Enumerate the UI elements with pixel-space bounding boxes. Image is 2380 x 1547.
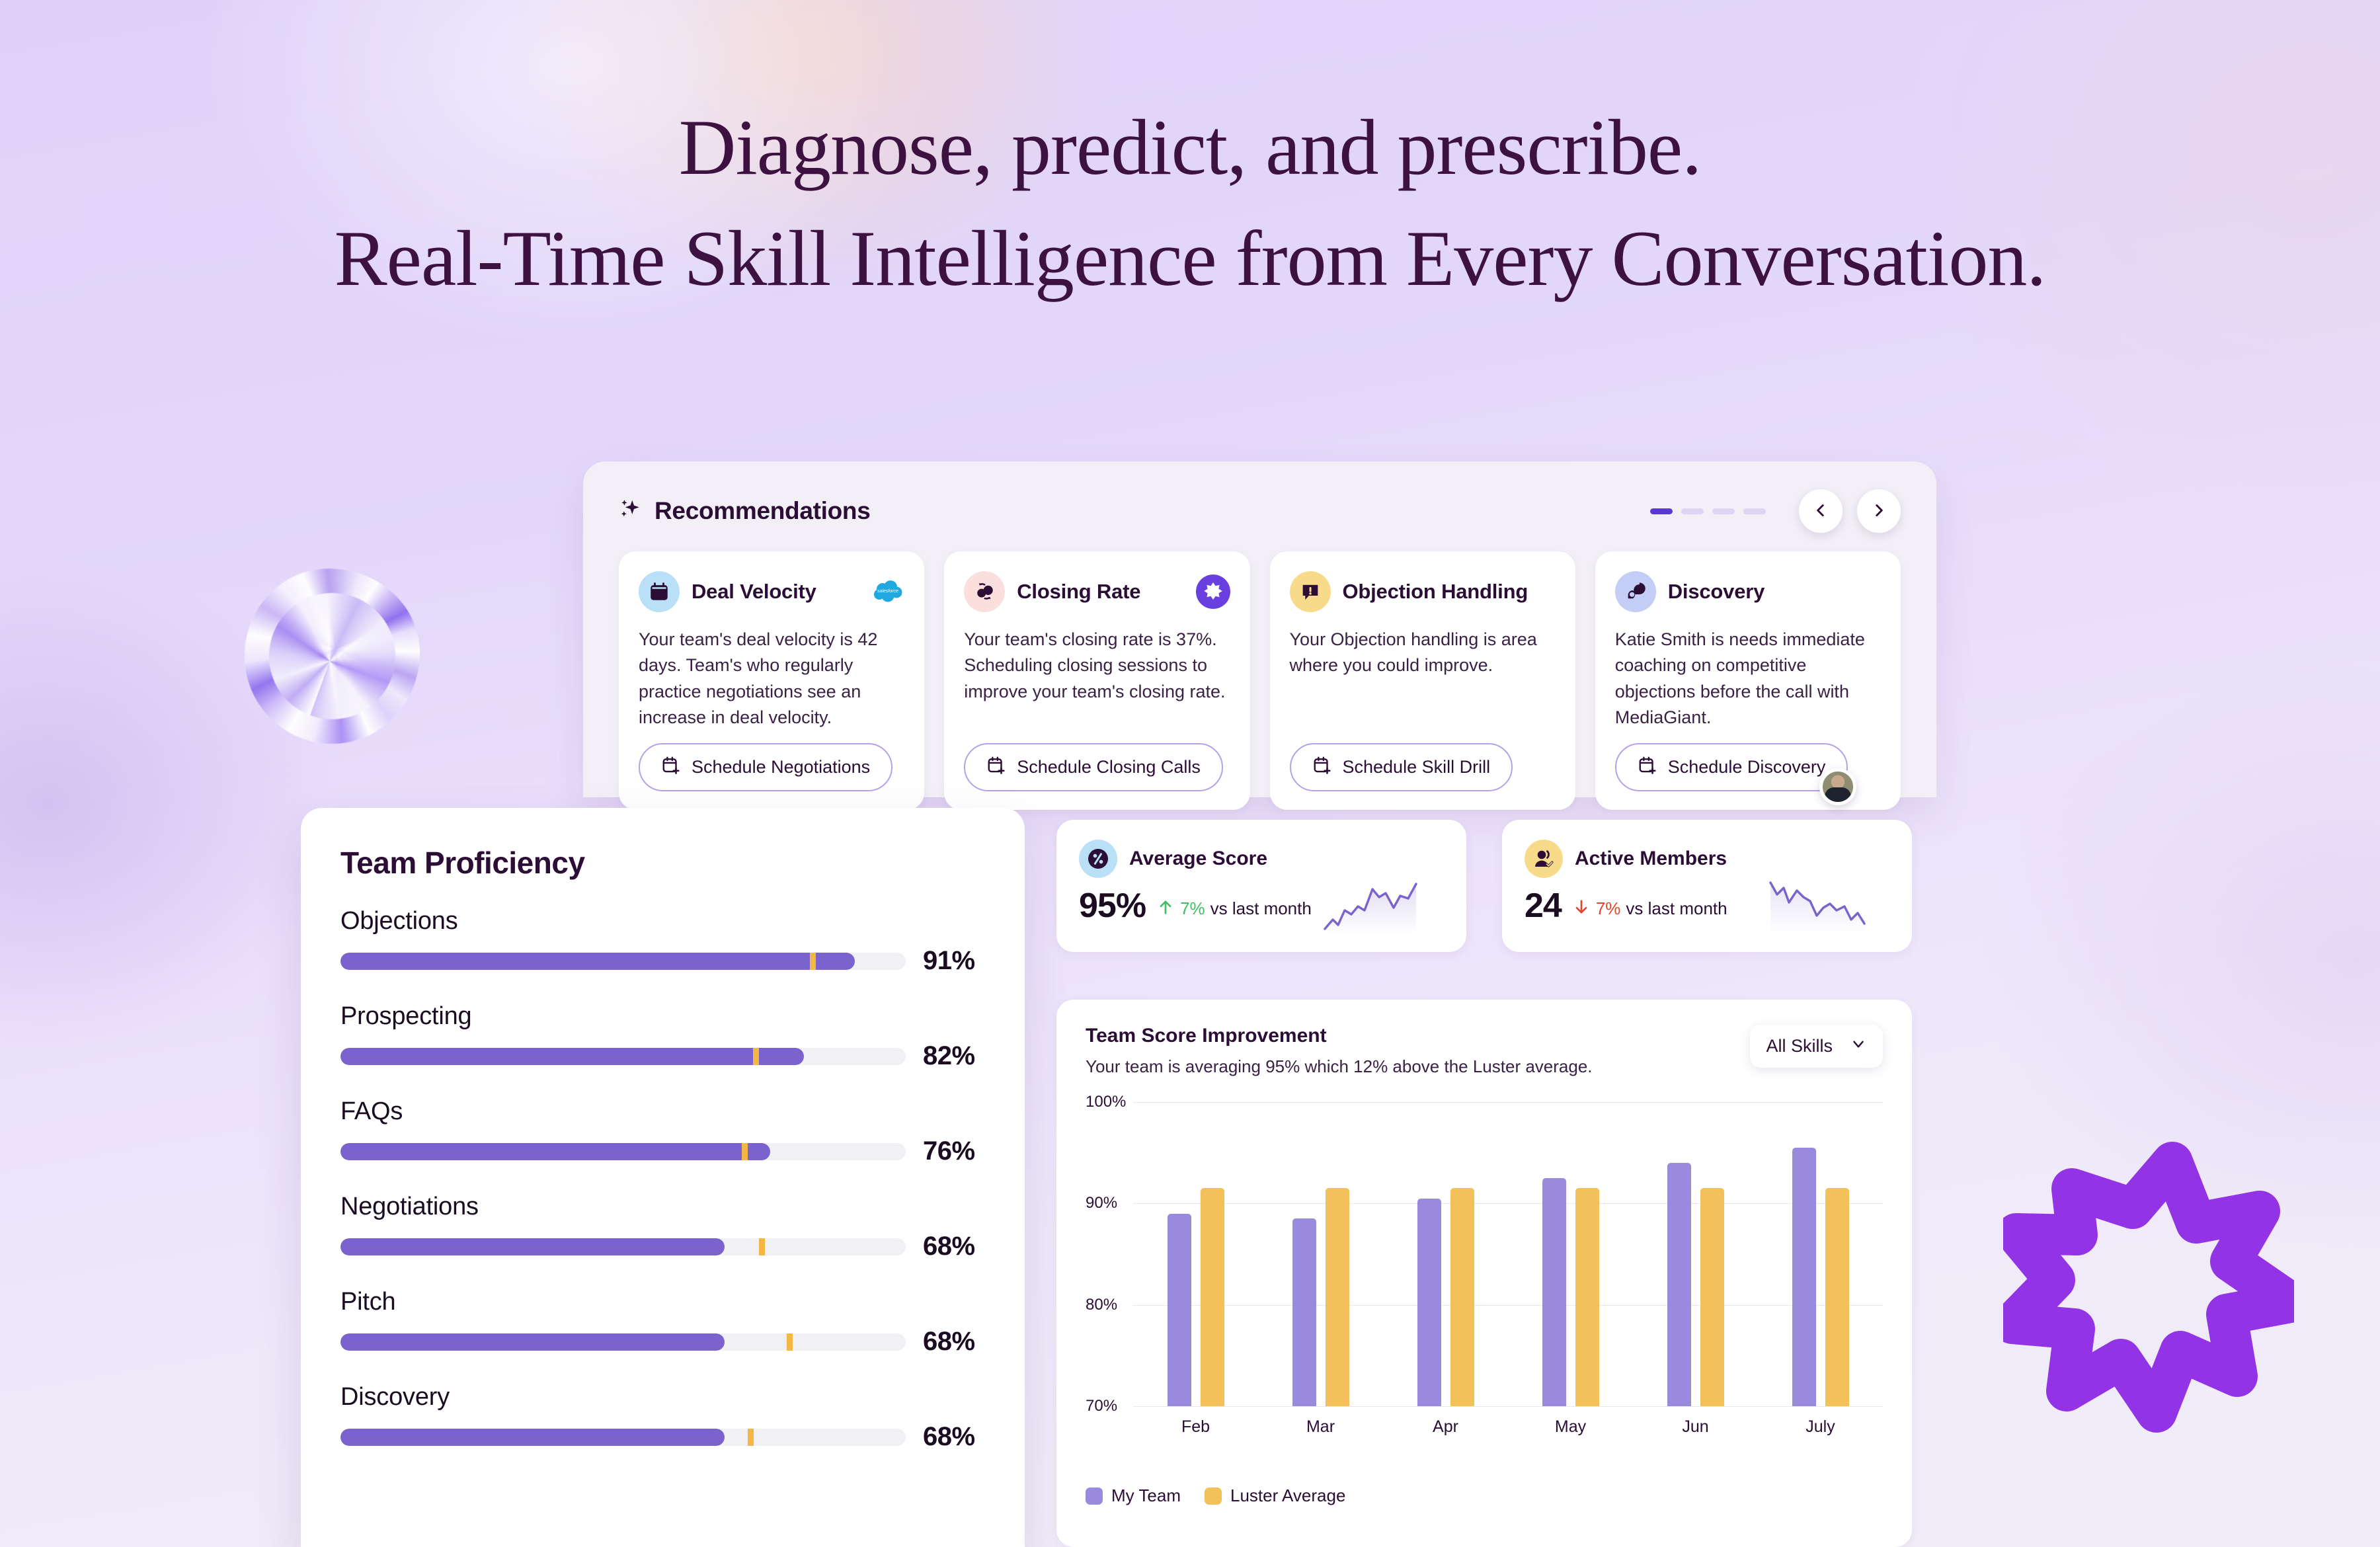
bar-group: July <box>1758 1102 1883 1406</box>
bar[interactable] <box>1417 1199 1441 1406</box>
bar[interactable] <box>1700 1188 1724 1406</box>
skill-percent: 68% <box>923 1422 975 1452</box>
skill-row: Prospecting82% <box>340 1002 985 1071</box>
skill-progress-fill <box>340 1238 725 1255</box>
percent-icon <box>1079 840 1117 878</box>
hero-line-1: Diagnose, predict, and prescribe. <box>0 99 2380 196</box>
stat-value: 24 <box>1525 889 1562 923</box>
card-title: Discovery <box>1668 580 1765 604</box>
pagination-dot-1[interactable] <box>1650 508 1673 514</box>
calendar-plus-icon <box>661 755 681 779</box>
skill-label: Prospecting <box>340 1002 985 1031</box>
stat-label: Active Members <box>1575 848 1727 870</box>
hero-line-2: Real-Time Skill Intelligence from Every … <box>0 210 2380 307</box>
skill-progress-track <box>340 1048 906 1065</box>
stat-value: 95% <box>1079 889 1146 923</box>
schedule-closing-calls-button[interactable]: Schedule Closing Calls <box>964 743 1223 791</box>
stat-header: Average Score <box>1079 840 1444 878</box>
chevron-right-icon <box>1870 502 1887 521</box>
stat-card-active-members: Active Members 24 7% vs last month <box>1502 820 1912 952</box>
stat-trend-pct: 7% <box>1596 898 1621 919</box>
skill-percent: 68% <box>923 1327 975 1357</box>
skill-benchmark-marker <box>742 1143 748 1160</box>
x-axis-tick-label: July <box>1758 1417 1883 1437</box>
skill-benchmark-marker <box>759 1238 765 1255</box>
hero-headline: Diagnose, predict, and prescribe. Real-T… <box>0 99 2380 307</box>
y-axis-tick-label: 100% <box>1086 1093 1126 1111</box>
card-body: Your Objection handling is area where yo… <box>1290 627 1556 731</box>
skill-progress-fill <box>340 953 855 970</box>
carousel-next-button[interactable] <box>1857 489 1901 533</box>
chart-title: Team Score Improvement <box>1086 1025 1593 1047</box>
skill-progress-fill <box>340 1143 770 1160</box>
bar-groups: FebMarAprMayJunJuly <box>1133 1102 1883 1406</box>
page-title: Team Proficiency <box>340 845 985 881</box>
chevron-left-icon <box>1812 502 1829 521</box>
calendar-icon <box>639 571 680 612</box>
gridline <box>1133 1406 1883 1407</box>
chart-header-text: Team Score Improvement Your team is aver… <box>1086 1025 1593 1077</box>
pagination-dot-3[interactable] <box>1712 508 1735 514</box>
y-axis-tick-label: 90% <box>1086 1194 1117 1212</box>
skill-percent: 91% <box>923 946 975 976</box>
legend-swatch <box>1205 1487 1222 1505</box>
skill-benchmark-marker <box>753 1048 759 1065</box>
skill-benchmark-marker <box>748 1429 754 1446</box>
svg-text:salesforce: salesforce <box>877 589 898 594</box>
burst-badge <box>1196 575 1230 609</box>
bar-group: May <box>1508 1102 1633 1406</box>
card-title: Closing Rate <box>1017 580 1140 604</box>
card-body: Your team's closing rate is 37%. Schedul… <box>964 627 1230 731</box>
button-label: Schedule Skill Drill <box>1343 757 1491 777</box>
bar-group: Feb <box>1133 1102 1258 1406</box>
schedule-negotiations-button[interactable]: Schedule Negotiations <box>639 743 892 791</box>
recommendation-card-deal-velocity[interactable]: Deal Velocity salesforce Your team's dea… <box>619 551 924 810</box>
skill-label: Negotiations <box>340 1193 985 1221</box>
skills-filter-label: All Skills <box>1766 1036 1833 1056</box>
stat-trend-pct: 7% <box>1180 898 1205 919</box>
x-axis-tick-label: Mar <box>1258 1417 1383 1437</box>
skills-filter-select[interactable]: All Skills <box>1750 1025 1883 1068</box>
bar-group: Apr <box>1383 1102 1508 1406</box>
bar[interactable] <box>1792 1148 1816 1406</box>
card-header: Discovery <box>1615 571 1881 612</box>
stat-card-average-score: Average Score 95% 7% vs last month <box>1056 820 1466 952</box>
bar[interactable] <box>1326 1188 1349 1406</box>
button-label: Schedule Negotiations <box>692 757 870 777</box>
x-axis-tick-label: Feb <box>1133 1417 1258 1437</box>
skill-progress-track <box>340 953 906 970</box>
x-axis-tick-label: May <box>1508 1417 1633 1437</box>
burst-star-decoration <box>2003 1124 2294 1468</box>
card-body: Katie Smith is needs immediate coaching … <box>1615 627 1881 731</box>
bar[interactable] <box>1542 1178 1566 1406</box>
chart-header: Team Score Improvement Your team is aver… <box>1086 1025 1883 1077</box>
legend-swatch <box>1086 1487 1103 1505</box>
bar-chart-plot: 70%80%90%100%FebMarAprMayJunJuly <box>1086 1102 1883 1439</box>
legend-label: Luster Average <box>1230 1486 1345 1506</box>
legend-item: Luster Average <box>1205 1486 1345 1506</box>
skill-label: Pitch <box>340 1288 985 1316</box>
sparkline-down <box>1768 877 1893 937</box>
pagination-dot-4[interactable] <box>1743 508 1766 514</box>
sparkline-up <box>1322 877 1448 937</box>
card-header: Objection Handling <box>1290 571 1556 612</box>
skill-label: Objections <box>340 907 985 935</box>
card-title: Deal Velocity <box>692 580 816 604</box>
stat-header: Active Members <box>1525 840 1889 878</box>
card-body: Your team's deal velocity is 42 days. Te… <box>639 627 904 731</box>
alert-bubble-icon <box>1290 571 1331 612</box>
skill-percent: 76% <box>923 1136 975 1166</box>
chevron-down-icon <box>1850 1035 1867 1057</box>
team-member-avatar[interactable] <box>1819 768 1856 805</box>
calendar-plus-icon <box>1638 755 1657 779</box>
bar[interactable] <box>1575 1188 1599 1406</box>
skill-benchmark-marker <box>787 1333 793 1351</box>
recommendations-header: Recommendations <box>583 461 1936 533</box>
bar-group: Mar <box>1258 1102 1383 1406</box>
recommendations-panel: Recommendations <box>583 461 1936 797</box>
skill-percent: 82% <box>923 1041 975 1071</box>
skill-progress-track <box>340 1238 906 1255</box>
bar[interactable] <box>1201 1188 1224 1406</box>
stat-trend-text: vs last month <box>1626 898 1727 919</box>
skill-row: Negotiations68% <box>340 1193 985 1261</box>
skill-row: Discovery68% <box>340 1383 985 1452</box>
legend-item: My Team <box>1086 1486 1181 1506</box>
skill-progress-track <box>340 1429 906 1446</box>
recommendations-title: Recommendations <box>654 497 871 525</box>
calendar-plus-icon <box>1312 755 1332 779</box>
recommendation-card-objection-handling[interactable]: Objection Handling Your Objection handli… <box>1270 551 1575 810</box>
user-check-icon <box>1525 840 1563 878</box>
schedule-skill-drill-button[interactable]: Schedule Skill Drill <box>1290 743 1513 791</box>
skill-progress-track <box>340 1333 906 1351</box>
button-label: Schedule Closing Calls <box>1017 757 1201 777</box>
chart-subtitle: Your team is averaging 95% which 12% abo… <box>1086 1056 1593 1077</box>
bar[interactable] <box>1168 1214 1191 1406</box>
recommendation-cards: Deal Velocity salesforce Your team's dea… <box>583 533 1936 810</box>
card-header: Deal Velocity salesforce <box>639 571 904 612</box>
legend-label: My Team <box>1111 1486 1181 1506</box>
salesforce-logo: salesforce <box>871 580 904 604</box>
x-axis-tick-label: Apr <box>1383 1417 1508 1437</box>
skill-progress-fill <box>340 1048 804 1065</box>
chart-legend: My TeamLuster Average <box>1086 1486 1883 1506</box>
team-score-improvement-card: Team Score Improvement Your team is aver… <box>1056 1000 1912 1547</box>
recommendation-card-closing-rate[interactable]: Closing Rate Your team's closing rate is… <box>944 551 1249 810</box>
team-proficiency-panel: Team Proficiency Objections91%Prospectin… <box>301 808 1025 1547</box>
arrow-down-icon <box>1572 897 1591 920</box>
button-label: Schedule Discovery <box>1668 757 1826 777</box>
handshake-icon <box>964 571 1005 612</box>
bar[interactable] <box>1450 1188 1474 1406</box>
schedule-discovery-button[interactable]: Schedule Discovery <box>1615 743 1848 791</box>
bar[interactable] <box>1667 1163 1691 1406</box>
skill-label: Discovery <box>340 1383 985 1411</box>
y-axis-tick-label: 80% <box>1086 1296 1117 1314</box>
skill-benchmark-marker <box>810 953 816 970</box>
recommendations-nav <box>1650 489 1901 533</box>
skill-progress-fill <box>340 1333 725 1351</box>
skill-progress-track <box>340 1143 906 1160</box>
card-title: Objection Handling <box>1343 580 1528 604</box>
sparkle-icon <box>619 498 643 525</box>
stat-label: Average Score <box>1129 848 1267 870</box>
speech-people-icon <box>1615 571 1656 612</box>
arrow-up-icon <box>1156 897 1175 920</box>
skill-row: FAQs76% <box>340 1097 985 1166</box>
stat-trend: 7% vs last month <box>1156 897 1312 923</box>
gem-illustration <box>245 569 420 744</box>
recommendations-title-group: Recommendations <box>619 497 871 525</box>
stat-trend: 7% vs last month <box>1572 897 1727 923</box>
stat-trend-text: vs last month <box>1210 898 1312 919</box>
bar[interactable] <box>1825 1188 1849 1406</box>
carousel-prev-button[interactable] <box>1799 489 1843 533</box>
skill-list: Objections91%Prospecting82%FAQs76%Negoti… <box>340 907 985 1452</box>
bar[interactable] <box>1292 1218 1316 1406</box>
pagination-dot-2[interactable] <box>1681 508 1704 514</box>
skill-label: FAQs <box>340 1097 985 1126</box>
skill-row: Pitch68% <box>340 1288 985 1357</box>
skill-progress-fill <box>340 1429 725 1446</box>
y-axis-tick-label: 70% <box>1086 1397 1117 1415</box>
calendar-plus-icon <box>986 755 1006 779</box>
skill-percent: 68% <box>923 1232 975 1261</box>
recommendation-card-discovery[interactable]: Discovery Katie Smith is needs immediate… <box>1595 551 1901 810</box>
carousel-pagination[interactable] <box>1650 508 1766 514</box>
card-header: Closing Rate <box>964 571 1230 612</box>
bar-group: Jun <box>1633 1102 1758 1406</box>
skill-row: Objections91% <box>340 907 985 976</box>
x-axis-tick-label: Jun <box>1633 1417 1758 1437</box>
